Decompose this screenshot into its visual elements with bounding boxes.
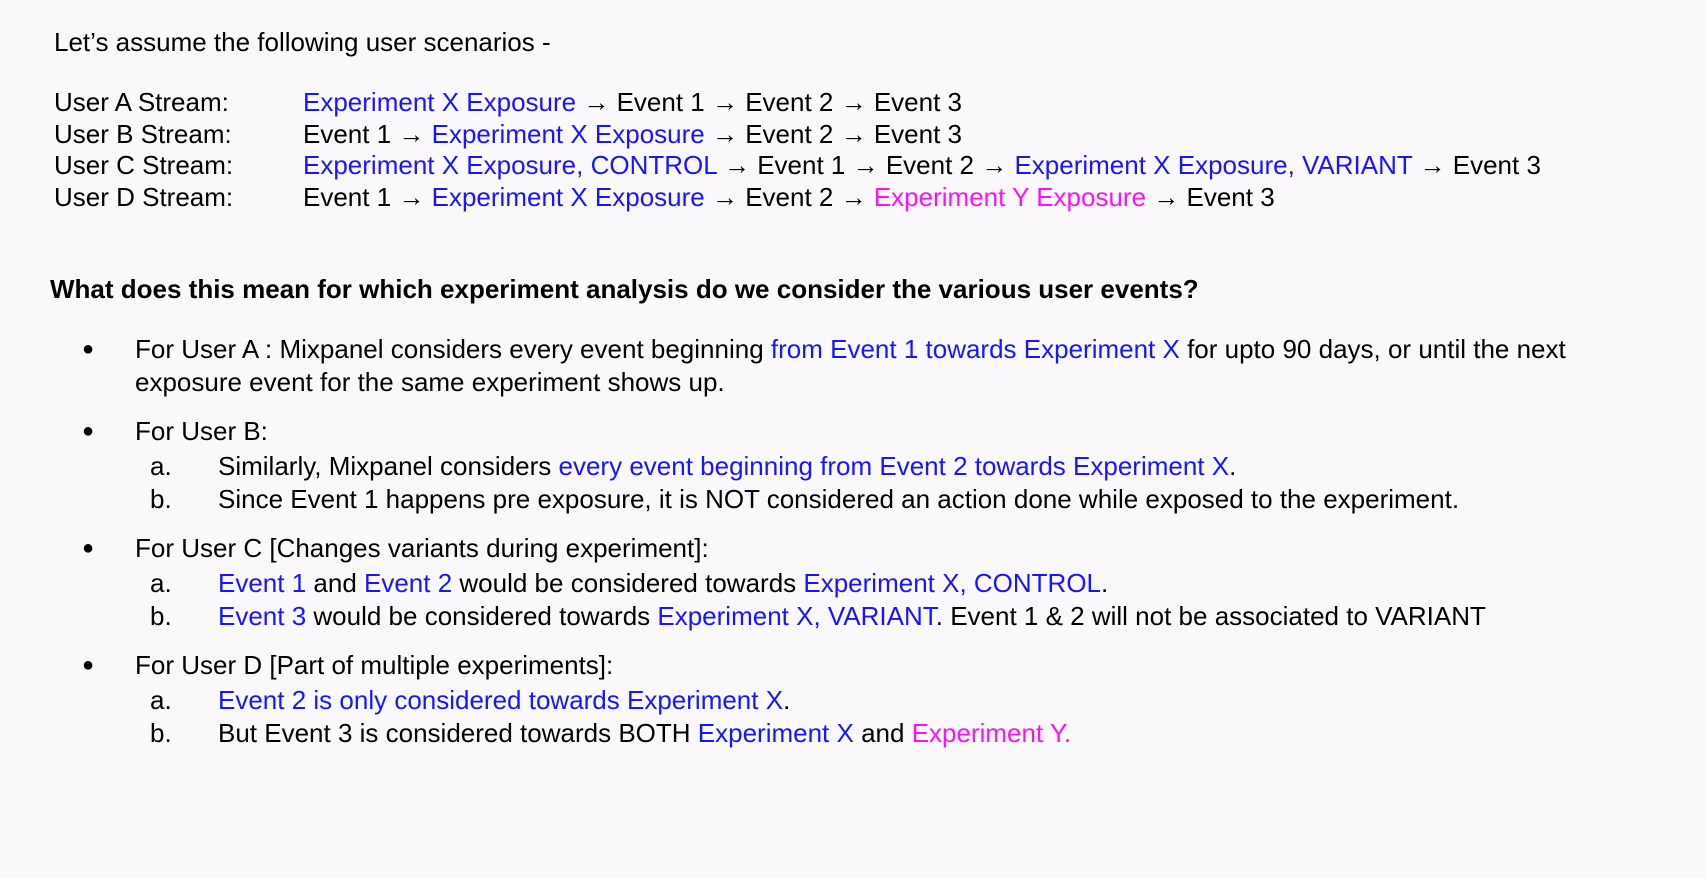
text-segment: and [306,568,364,598]
text-segment: and [854,718,912,748]
text-segment: Experiment X Exposure [432,119,705,149]
text-segment: every event beginning from Event 2 towar… [559,451,1230,481]
text-segment: For User C [Changes variants during expe… [135,533,709,563]
scenario-row: User C Stream:Experiment X Exposure, CON… [54,150,1541,182]
analysis-bullet-list: ●For User A : Mixpanel considers every e… [0,333,1706,750]
text-segment: → [391,119,431,149]
text-segment: Experiment X Exposure [432,182,705,212]
section-question-heading: What does this mean for which experiment… [50,272,1199,306]
text-segment: → [833,87,873,117]
bullet-marker-icon: ● [82,532,102,565]
sub-item-list: a.Similarly, Mixpanel considers every ev… [0,450,1706,516]
text-segment: → [705,182,745,212]
sub-item: a.Event 2 is only considered towards Exp… [0,684,1706,717]
text-segment: Event 2 [745,182,833,212]
text-segment: Experiment X Exposure [303,87,576,117]
text-segment: For User D [Part of multiple experiments… [135,650,613,680]
sub-item-list: a.Event 2 is only considered towards Exp… [0,684,1706,750]
text-segment: But Event 3 is considered towards BOTH [218,718,698,748]
text-segment: Experiment Y Exposure [874,182,1146,212]
sub-item-marker: b. [150,717,190,750]
text-segment: Event 2 [364,568,452,598]
bullet-block: ●For User B:a.Similarly, Mixpanel consid… [0,415,1706,516]
text-segment: For User A : Mixpanel considers every ev… [135,334,771,364]
text-segment: Event 3 [218,601,306,631]
bullet-item: ●For User B: [0,415,1706,448]
text-segment: Event 2 [745,87,833,117]
bullet-item: ●For User A : Mixpanel considers every e… [0,333,1706,399]
text-segment: → [705,119,745,149]
bullet-item: ●For User D [Part of multiple experiment… [0,649,1706,682]
text-segment: . Event 1 & 2 will not be associated to … [936,601,1486,631]
bullet-marker-icon: ● [82,649,102,682]
bullet-block: ●For User A : Mixpanel considers every e… [0,333,1706,399]
text-segment: Experiment Y. [912,718,1071,748]
sub-item: b.Since Event 1 happens pre exposure, it… [0,483,1706,516]
intro-line: Let’s assume the following user scenario… [54,25,551,59]
text-segment: → [1146,182,1186,212]
sub-item: a.Event 1 and Event 2 would be considere… [0,567,1706,600]
scenario-event-stream: Event 1 → Experiment X Exposure → Event … [303,182,1275,214]
scenario-user-label: User A Stream: [54,87,303,119]
text-segment: would be considered towards [452,568,803,598]
text-segment: Event 1 [617,87,705,117]
scenario-user-label: User B Stream: [54,119,303,151]
sub-item-list: a.Event 1 and Event 2 would be considere… [0,567,1706,633]
bullet-block: ●For User C [Changes variants during exp… [0,532,1706,633]
text-segment: Event 2 is only considered towards Exper… [218,685,783,715]
text-segment: would be considered towards [306,601,657,631]
text-segment: from Event 1 towards Experiment X [771,334,1180,364]
bullet-block: ●For User D [Part of multiple experiment… [0,649,1706,750]
sub-item: b.But Event 3 is considered towards BOTH… [0,717,1706,750]
text-segment: → [705,87,745,117]
text-segment: → [717,150,757,180]
sub-item: a.Similarly, Mixpanel considers every ev… [0,450,1706,483]
sub-item-marker: b. [150,483,190,516]
text-segment: Similarly, Mixpanel considers [218,451,559,481]
text-segment: → [576,87,616,117]
text-segment: → [974,150,1014,180]
sub-item-marker: b. [150,600,190,633]
text-segment: → [391,182,431,212]
scenario-event-stream: Event 1 → Experiment X Exposure → Event … [303,119,962,151]
scenario-row: User D Stream:Event 1 → Experiment X Exp… [54,182,1541,214]
bullet-marker-icon: ● [82,415,102,448]
text-segment: Event 1 [757,150,845,180]
text-segment: Event 3 [1186,182,1274,212]
text-segment: Experiment X Exposure, VARIANT [1014,150,1412,180]
text-segment: Experiment X, CONTROL [803,568,1101,598]
text-segment: Event 3 [1453,150,1541,180]
text-segment: Since Event 1 happens pre exposure, it i… [218,484,1459,514]
scenario-row: User A Stream:Experiment X Exposure → Ev… [54,87,1541,119]
text-segment: Experiment X [698,718,854,748]
text-segment: . [1101,568,1108,598]
text-segment: Experiment X, VARIANT [657,601,935,631]
bullet-item: ●For User C [Changes variants during exp… [0,532,1706,565]
text-segment: Event 3 [874,119,962,149]
text-segment: Event 2 [745,119,833,149]
text-segment: → [833,119,873,149]
text-segment: Event 1 [303,182,391,212]
text-segment: Event 1 [303,119,391,149]
text-segment: Event 3 [874,87,962,117]
user-scenarios-list: User A Stream:Experiment X Exposure → Ev… [54,87,1541,213]
text-segment: Experiment X Exposure, CONTROL [303,150,717,180]
sub-item-marker: a. [150,450,190,483]
scenario-row: User B Stream:Event 1 → Experiment X Exp… [54,119,1541,151]
scenario-user-label: User D Stream: [54,182,303,214]
sub-item: b.Event 3 would be considered towards Ex… [0,600,1706,633]
bullet-marker-icon: ● [82,333,102,366]
text-segment: → [833,182,873,212]
scenario-event-stream: Experiment X Exposure, CONTROL → Event 1… [303,150,1541,182]
text-segment: For User B: [135,416,268,446]
document-page: Let’s assume the following user scenario… [0,0,1706,878]
text-segment: Event 1 [218,568,306,598]
sub-item-marker: a. [150,567,190,600]
sub-item-marker: a. [150,684,190,717]
scenario-user-label: User C Stream: [54,150,303,182]
text-segment: → [1412,150,1452,180]
text-segment: . [1229,451,1236,481]
text-segment: Event 2 [886,150,974,180]
text-segment: → [845,150,885,180]
scenario-event-stream: Experiment X Exposure → Event 1 → Event … [303,87,962,119]
text-segment: . [783,685,790,715]
